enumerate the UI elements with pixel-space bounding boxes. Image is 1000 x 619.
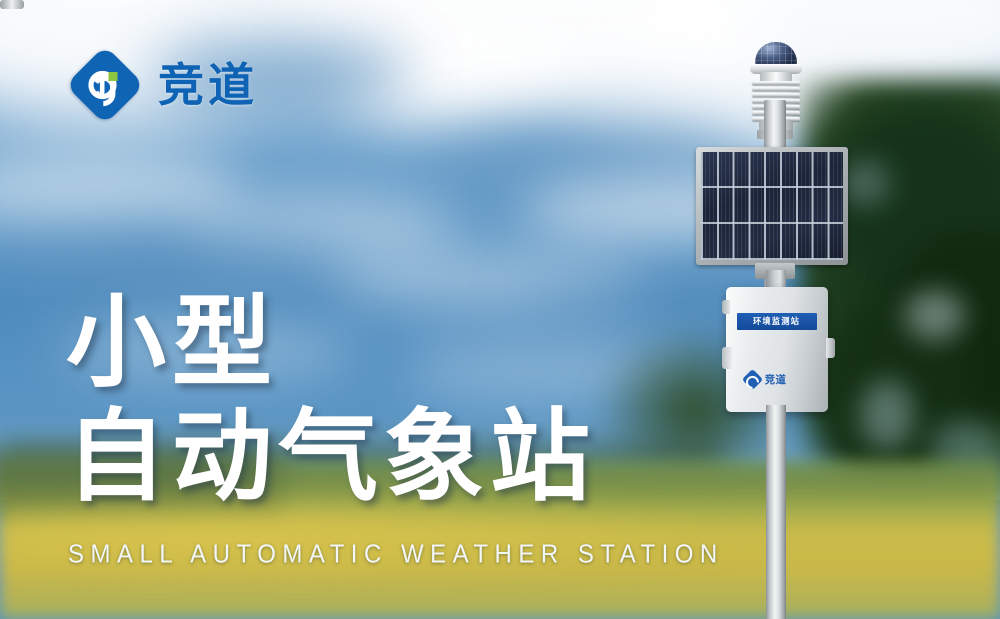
brand-name-text: 竞道: [158, 62, 258, 108]
subtitle-text: SMALL AUTOMATIC WEATHER STATION: [68, 540, 724, 570]
headline-line-2: 自动气象站: [66, 406, 596, 508]
solar-panel-icon: [696, 147, 848, 265]
enclosure-logo-text: 竞道: [765, 371, 787, 386]
enclosure-banner: 环境监测站: [737, 313, 817, 330]
headline-line-1: 小型: [66, 292, 596, 394]
mast-cap: [0, 0, 24, 9]
enclosure-banner-text: 环境监测站: [754, 317, 801, 325]
logo-glyph-svg: [68, 48, 142, 122]
brand-logo[interactable]: 竞道: [68, 48, 258, 122]
enclosure-brand-logo: 竞道: [745, 370, 811, 388]
enclosure-hinge-top: [722, 300, 730, 314]
weather-station-promo-banner: 环境监测站 竞道 竞道 小型 自动气象站: [0, 0, 1000, 619]
headline-block: 小型 自动气象站: [66, 292, 596, 508]
jingdao-diamond-logo-icon: [742, 368, 763, 389]
enclosure-hinge-bottom: [722, 347, 732, 369]
controller-enclosure: [726, 287, 828, 412]
solar-cells: [701, 152, 843, 260]
jingdao-diamond-logo-icon: [68, 48, 142, 122]
enclosure-latch: [826, 338, 835, 358]
mast-lower-section: [766, 405, 786, 619]
